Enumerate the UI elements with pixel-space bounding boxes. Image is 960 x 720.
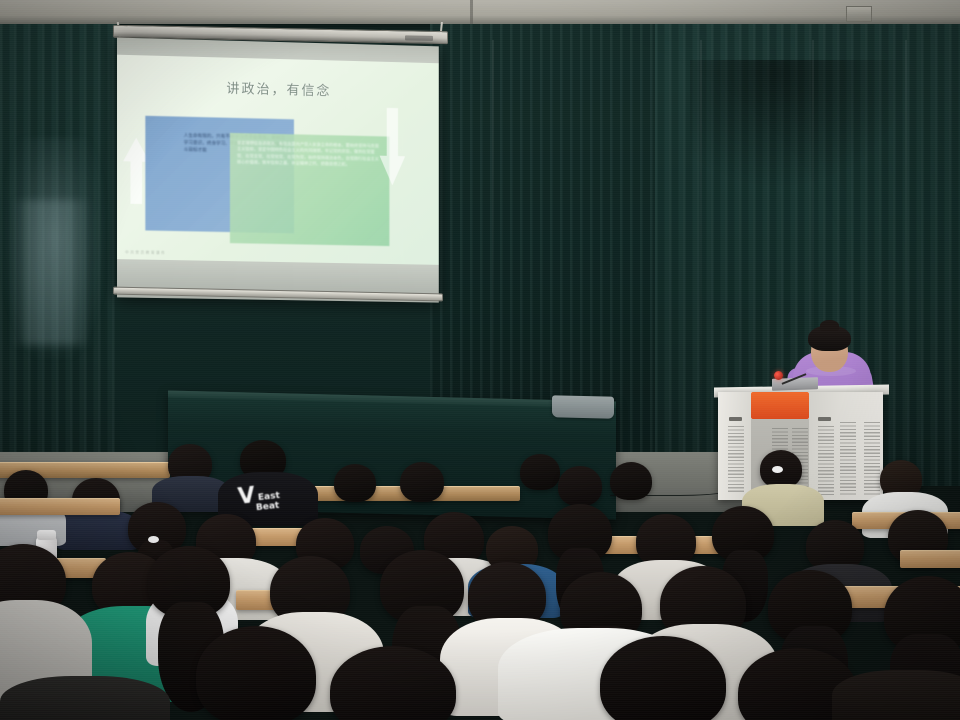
jacket-letter: V — [237, 483, 257, 510]
tiered-desk — [900, 550, 960, 568]
audience-area: V East Beat — [0, 440, 960, 720]
ceiling-vent-icon — [846, 6, 872, 22]
tiered-desk — [0, 498, 120, 515]
speaker-hair-bun — [820, 320, 839, 331]
audience-head-front — [196, 626, 316, 720]
audience-head — [558, 466, 602, 506]
lectern-handle[interactable] — [729, 417, 742, 421]
audience-head — [334, 464, 376, 502]
hair-scrunchie — [772, 466, 783, 473]
slide-title: 讲政治，有信念 — [117, 75, 439, 102]
audience-shoulders — [832, 670, 960, 720]
lectern-handle[interactable] — [818, 417, 831, 421]
audience-head — [400, 462, 444, 502]
microphone-icon — [774, 371, 783, 380]
curtain-fold-shadow — [690, 60, 910, 190]
housing-brand-label — [405, 35, 433, 41]
window-backlight-core — [12, 200, 92, 345]
folded-cloth — [552, 395, 614, 419]
projection-screen: 讲政治，有信念 人生命有限的，只有不断学习才不会落伍，要树立学习意识，终身学习、… — [117, 38, 439, 303]
water-bottle-cap — [37, 530, 56, 540]
lecture-hall-photo: 讲政治，有信念 人生命有限的，只有不断学习才不会落伍，要树立学习意识，终身学习、… — [0, 0, 960, 720]
audience-head — [610, 462, 652, 500]
slide-green-box: 坚定理想信念讲政治、有信念是共产党人安身立命的根本，要始终坚持马克思主义信仰，坚… — [230, 133, 389, 246]
slide-green-box-text: 坚定理想信念讲政治、有信念是共产党人安身立命的根本，要始终坚持马克思主义信仰，坚… — [237, 140, 383, 169]
curtain-fold — [700, 40, 702, 480]
audience-shoulders — [0, 676, 170, 720]
ceiling-seam — [470, 0, 473, 26]
curtain-fold — [905, 40, 907, 480]
audience-head — [520, 454, 560, 490]
hair-scrunchie — [148, 536, 159, 543]
lectern-orange-accent — [751, 392, 809, 419]
slide-content: 讲政治，有信念 人生命有限的，只有不断学习才不会落伍，要树立学习意识，终身学习、… — [117, 55, 439, 265]
slide-footer-text: 中共党员教育课件 — [125, 250, 166, 256]
